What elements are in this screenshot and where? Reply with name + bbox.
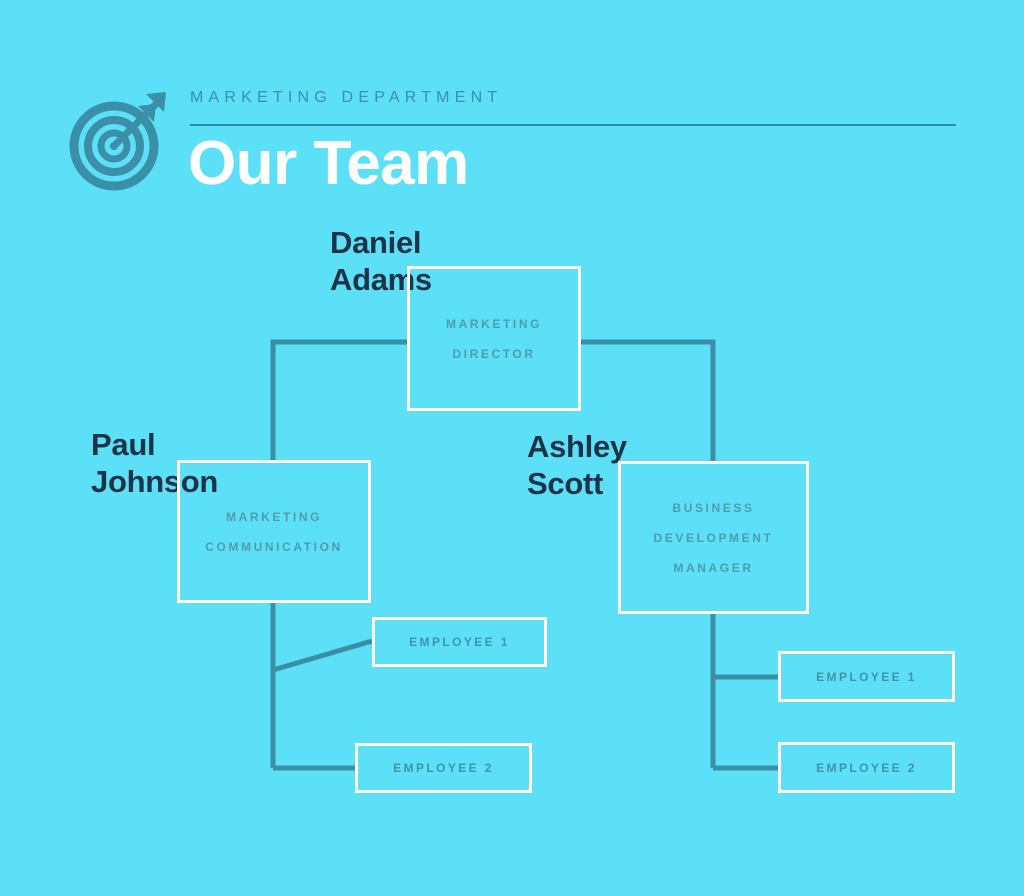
edge-director-to-marketing-comm bbox=[273, 342, 407, 462]
employee-label: EMPLOYEE 2 bbox=[393, 761, 494, 775]
node-role-line: COMMUNICATION bbox=[205, 532, 343, 562]
employee-label: EMPLOYEE 2 bbox=[816, 761, 917, 775]
node-box-business-dev[interactable]: BUSINESS DEVELOPMENT MANAGER bbox=[618, 461, 809, 614]
employee-label: EMPLOYEE 1 bbox=[409, 635, 510, 649]
node-box-director[interactable]: MARKETING DIRECTOR bbox=[407, 266, 581, 411]
employee-label: EMPLOYEE 1 bbox=[816, 670, 917, 684]
edge-marketing-comm-to-emp-left-1 bbox=[273, 641, 372, 670]
node-name-business-dev: Ashley Scott bbox=[527, 428, 627, 502]
node-role-line: DIRECTOR bbox=[452, 339, 535, 369]
node-role-line: MARKETING bbox=[446, 309, 542, 339]
node-box-marketing-comm[interactable]: MARKETING COMMUNICATION bbox=[177, 460, 371, 603]
employee-box-left-2[interactable]: EMPLOYEE 2 bbox=[355, 743, 532, 793]
employee-box-right-1[interactable]: EMPLOYEE 1 bbox=[778, 651, 955, 702]
employee-box-right-2[interactable]: EMPLOYEE 2 bbox=[778, 742, 955, 793]
node-role-line: BUSINESS bbox=[672, 493, 754, 523]
employee-box-left-1[interactable]: EMPLOYEE 1 bbox=[372, 617, 547, 667]
node-role-line: MARKETING bbox=[226, 502, 322, 532]
node-role-line: DEVELOPMENT bbox=[654, 523, 774, 553]
node-role-line: MANAGER bbox=[673, 553, 753, 583]
org-chart-poster: MARKETING DEPARTMENT Our Team Daniel Ada… bbox=[0, 0, 1024, 896]
